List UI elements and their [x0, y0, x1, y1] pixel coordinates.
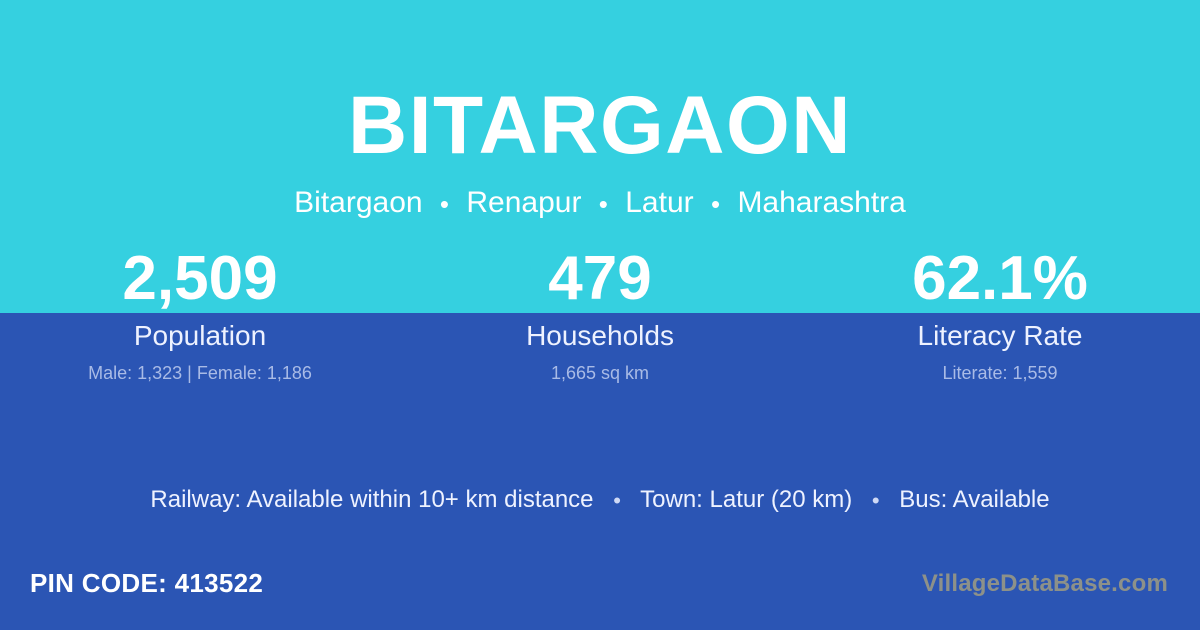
- stat-literacy-rate: 62.1% Literacy Rate Literate: 1,559: [800, 243, 1200, 385]
- stat-label: Literacy Rate: [800, 319, 1200, 353]
- amenity-town: Town: Latur (20 km): [640, 486, 852, 513]
- stats-row: 2,509 Population Male: 1,323 | Female: 1…: [0, 243, 1200, 385]
- stat-sublabel: Male: 1,323 | Female: 1,186: [0, 361, 400, 385]
- amenity-bus: Bus: Available: [899, 486, 1049, 513]
- breadcrumb-separator-icon: •: [590, 185, 617, 223]
- amenity-separator-icon: •: [859, 485, 893, 517]
- breadcrumb: Bitargaon • Renapur • Latur • Maharashtr…: [0, 174, 1200, 223]
- amenity-separator-icon: •: [600, 485, 634, 517]
- stat-value: 479: [400, 243, 800, 315]
- breadcrumb-district: Latur: [625, 186, 693, 219]
- stat-label: Households: [400, 319, 800, 353]
- breadcrumb-separator-icon: •: [431, 185, 458, 223]
- stat-population: 2,509 Population Male: 1,323 | Female: 1…: [0, 243, 400, 385]
- stat-label: Population: [0, 319, 400, 353]
- stat-households: 479 Households 1,665 sq km: [400, 243, 800, 385]
- amenities-line: Railway: Available within 10+ km distanc…: [0, 484, 1200, 517]
- breadcrumb-block: Renapur: [466, 186, 581, 219]
- breadcrumb-separator-icon: •: [702, 185, 729, 223]
- pin-code-label: PIN CODE: 413522: [30, 566, 263, 600]
- breadcrumb-village: Bitargaon: [294, 186, 422, 219]
- stat-value: 2,509: [0, 243, 400, 315]
- card-footer: PIN CODE: 413522 VillageDataBase.com: [0, 552, 1200, 630]
- card-header: BITARGAON Bitargaon • Renapur • Latur • …: [0, 0, 1200, 223]
- breadcrumb-state: Maharashtra: [737, 186, 905, 219]
- stat-sublabel: Literate: 1,559: [800, 361, 1200, 385]
- village-info-card: BITARGAON Bitargaon • Renapur • Latur • …: [0, 0, 1200, 630]
- brand-watermark: VillageDataBase.com: [922, 568, 1168, 600]
- stat-sublabel: 1,665 sq km: [400, 361, 800, 385]
- amenity-railway: Railway: Available within 10+ km distanc…: [150, 486, 593, 513]
- stat-value: 62.1%: [800, 243, 1200, 315]
- page-title: BITARGAON: [0, 0, 1200, 174]
